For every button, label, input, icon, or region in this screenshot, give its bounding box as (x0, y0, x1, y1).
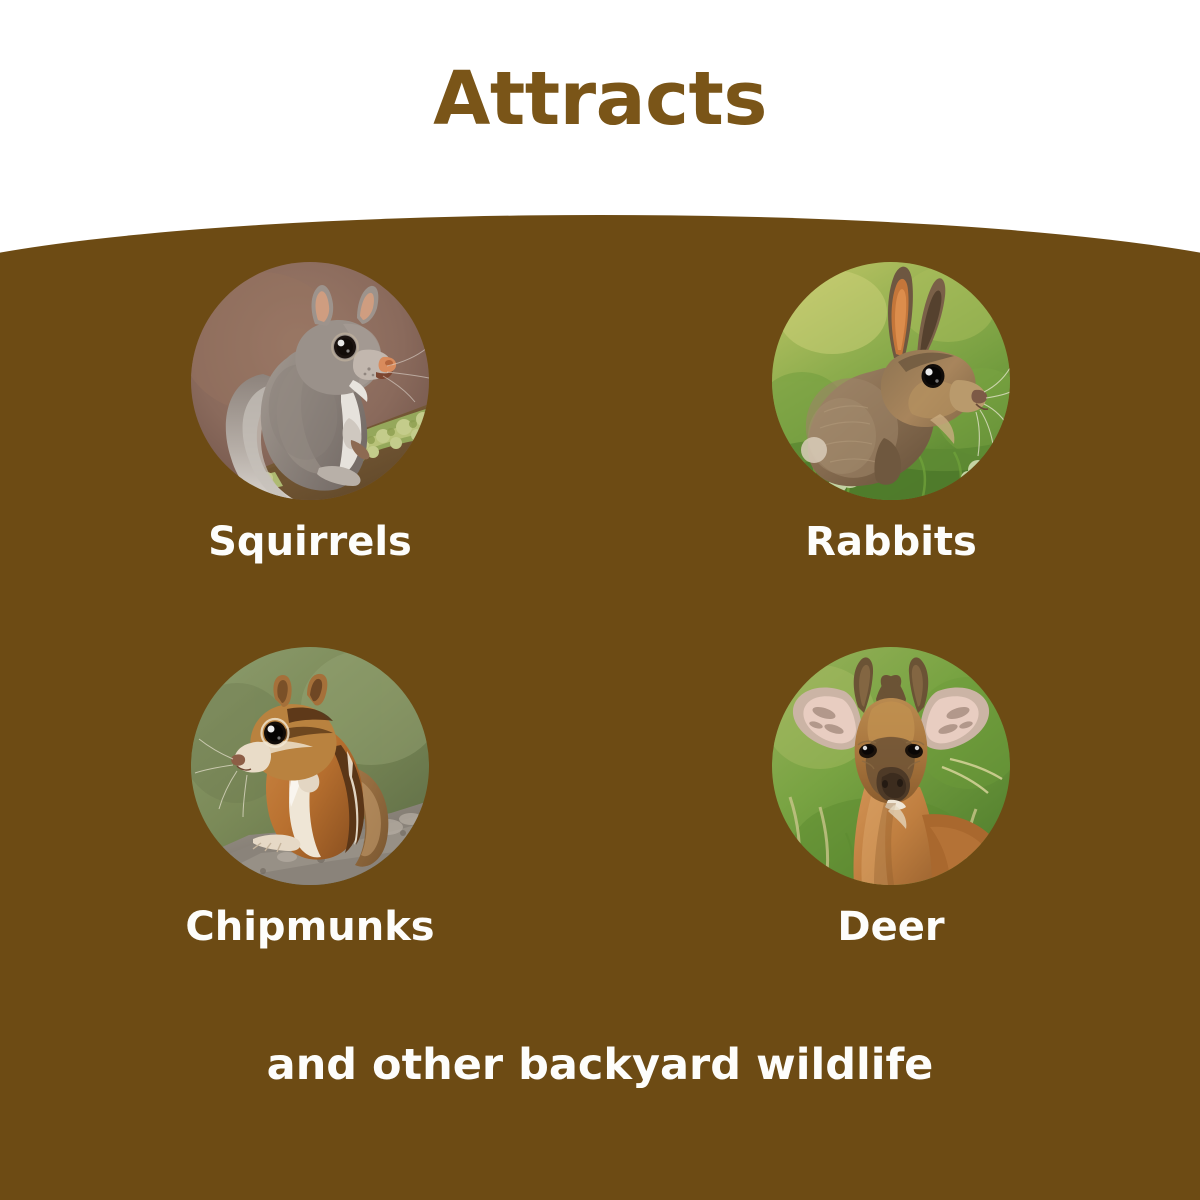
rabbit-photo (772, 262, 1010, 500)
animal-label-chipmunks: Chipmunks (185, 907, 434, 947)
animal-card-chipmunks[interactable]: Chipmunks (0, 647, 600, 1032)
deer-photo (772, 647, 1010, 885)
animal-label-deer: Deer (837, 907, 944, 947)
squirrel-photo (191, 262, 429, 500)
page-title: Attracts (0, 62, 1200, 136)
animal-grid: Squirrels (0, 262, 1200, 1032)
chipmunk-photo (191, 647, 429, 885)
animal-label-rabbits: Rabbits (805, 522, 977, 562)
footer-caption: and other backyard wildlife (0, 1040, 1200, 1090)
animal-card-rabbits[interactable]: Rabbits (600, 262, 1200, 647)
attracts-poster: Attracts (0, 0, 1200, 1200)
animal-card-deer[interactable]: Deer (600, 647, 1200, 1032)
animal-label-squirrels: Squirrels (208, 522, 412, 562)
animal-card-squirrels[interactable]: Squirrels (0, 262, 600, 647)
